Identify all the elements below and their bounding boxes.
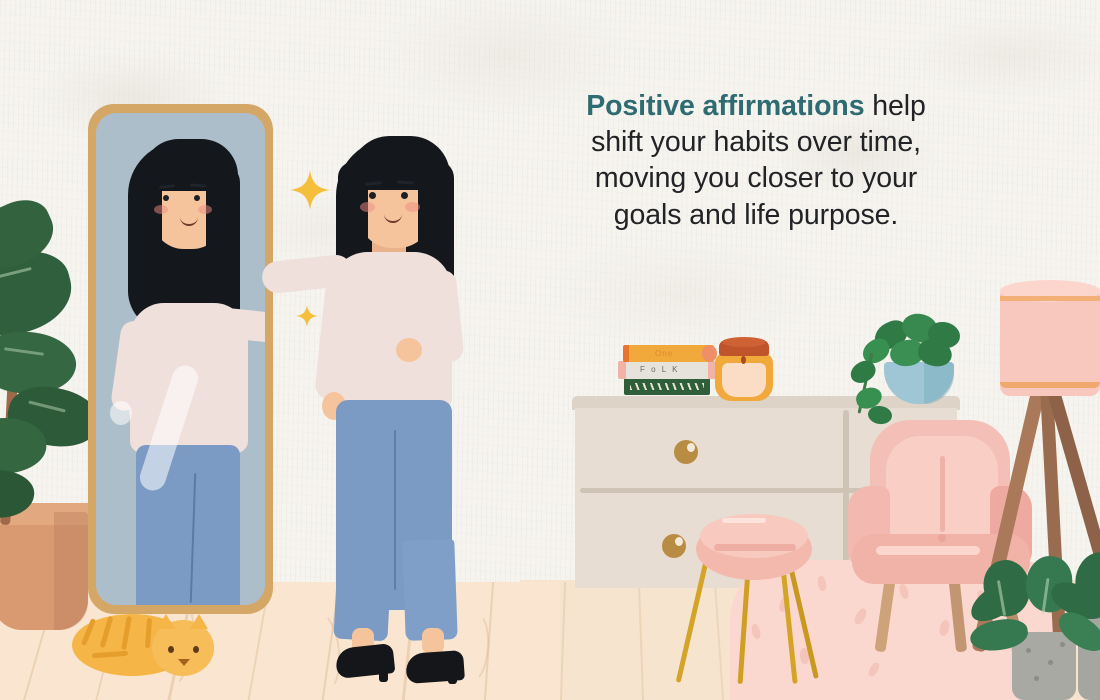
mirror-glass — [96, 113, 265, 605]
pot-speck — [1026, 648, 1031, 653]
sparkle-icon — [290, 170, 330, 210]
sparkle-small — [296, 305, 318, 327]
sideboard-knob — [662, 534, 686, 558]
message-line3: moving you closer to your — [595, 162, 917, 194]
book-folk-label: F o L K — [640, 365, 680, 374]
lamp-shade — [1000, 288, 1100, 396]
knob-highlight — [687, 443, 695, 452]
message-line4: goals and life purpose. — [614, 199, 898, 231]
jar-label — [722, 363, 766, 397]
lamp-shade-band — [1000, 296, 1100, 301]
reflection-hair-strand — [132, 165, 162, 315]
mirror-sheen — [110, 401, 132, 425]
blush — [405, 202, 420, 212]
pot-speck — [1060, 642, 1065, 647]
chair-seat-highlight — [876, 546, 980, 555]
reflection-blush — [198, 205, 212, 214]
hand — [396, 338, 422, 362]
pot-speck — [1034, 676, 1039, 681]
reflection-eye — [163, 195, 169, 201]
message-line1-rest: help — [864, 90, 925, 122]
blush — [360, 202, 375, 212]
cat-ear — [190, 614, 208, 629]
book-one-label: One — [655, 349, 673, 358]
cat-eye — [168, 646, 174, 653]
jar-lid-top — [722, 337, 766, 347]
chair-crease — [940, 456, 945, 532]
stool-seat-highlight — [722, 518, 766, 523]
cat-nose — [178, 659, 190, 666]
reflection-blush — [154, 205, 168, 214]
chair-button — [938, 534, 946, 542]
jeans-crease — [394, 430, 396, 590]
pot-shade — [54, 512, 88, 630]
book-green-pattern — [630, 383, 704, 390]
book-folk-edge — [618, 361, 626, 379]
jeans-leg-left — [333, 539, 392, 642]
pot-speck — [1048, 660, 1053, 665]
reflection-eye — [194, 195, 200, 201]
ankle — [422, 628, 444, 654]
stool-seat-crease — [714, 544, 796, 551]
shoe-heel-left — [379, 660, 388, 682]
standing-mirror[interactable] — [88, 104, 273, 614]
eye — [369, 192, 376, 199]
lamp-shade-band — [1000, 382, 1100, 388]
sparkle-icon — [296, 305, 318, 327]
book-one-edge — [623, 345, 629, 362]
accent-phrase: Positive affirmations — [586, 90, 864, 122]
jeans-leg-right — [402, 539, 457, 641]
sparkle-large — [290, 170, 330, 210]
shoe-heel-right — [448, 662, 457, 684]
knob-highlight — [675, 537, 683, 546]
jar-drip — [741, 356, 746, 364]
reflection-hair-strand — [206, 165, 240, 325]
sideboard-knob — [674, 440, 698, 464]
eye — [401, 192, 408, 199]
affirmation-message: Positive affirmations help shift your ha… — [546, 88, 966, 233]
cat-eye — [193, 646, 199, 653]
message-line2: shift your habits over time, — [591, 126, 921, 158]
cat-ear — [157, 614, 175, 629]
illustration-scene: Positive affirmations help shift your ha… — [0, 0, 1100, 700]
